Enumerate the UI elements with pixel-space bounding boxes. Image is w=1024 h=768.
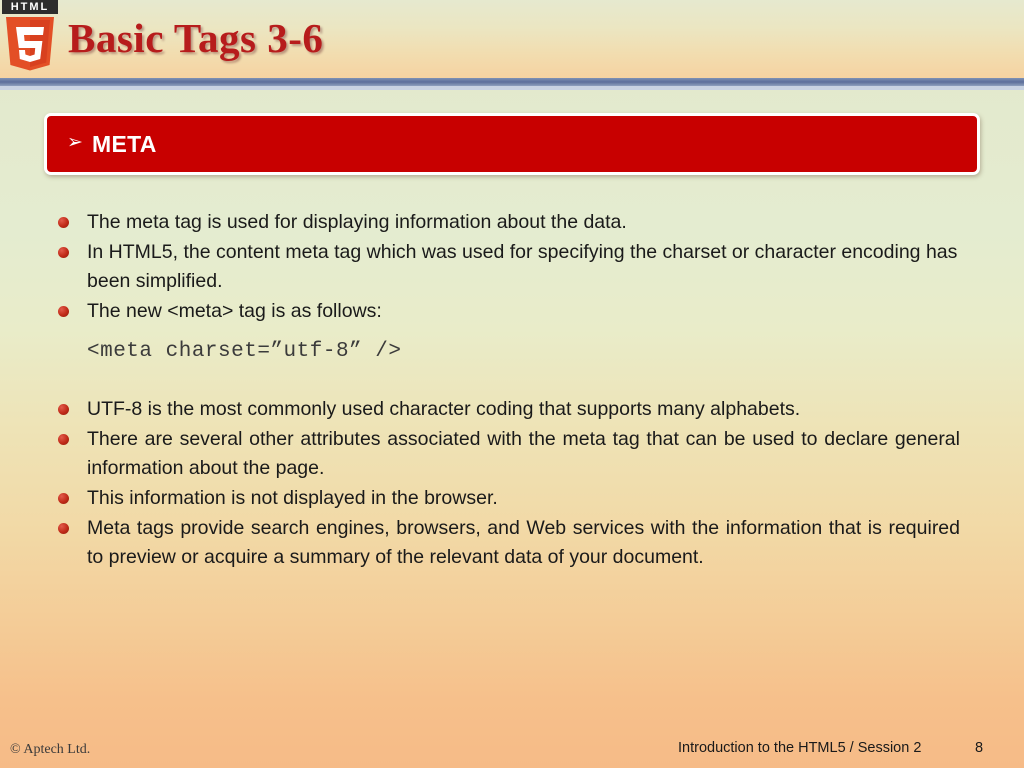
list-item: The meta tag is used for displaying info… [55,208,960,237]
section-heading-label: META [92,131,157,158]
page-title: Basic Tags 3-6 [68,14,323,62]
footer-copyright: © Aptech Ltd. [10,742,90,758]
list-item-text: UTF-8 is the most commonly used characte… [87,395,960,424]
slide: HTML Basic Tags 3-6 ➢ META The meta tag … [0,0,1024,768]
list-item-text: There are several other attributes assoc… [87,425,960,483]
list-item: There are several other attributes assoc… [55,425,960,483]
footer-page-number: 8 [975,740,983,756]
list-item: Meta tags provide search engines, browse… [55,514,960,572]
bullet-dot-icon [58,434,69,445]
copyright-icon: © [10,742,21,757]
bullet-dot-icon [58,247,69,258]
html5-shield-icon [2,15,58,71]
bullet-dot-icon [58,493,69,504]
bullet-dot-icon [58,404,69,415]
html5-logo-word: HTML [2,0,58,14]
footer-course-label: Introduction to the HTML5 / Session 2 [678,740,921,756]
html5-logo: HTML [0,0,62,72]
slide-content: The meta tag is used for displaying info… [55,208,960,573]
section-heading-box: ➢ META [44,113,980,175]
list-item: The new <meta> tag is as follows: [55,297,960,326]
list-item-text: Meta tags provide search engines, browse… [87,514,960,572]
bullet-dot-icon [58,306,69,317]
list-item-text: The new <meta> tag is as follows: [87,297,960,326]
list-item: UTF-8 is the most commonly used characte… [55,395,960,424]
code-snippet: <meta charset=”utf-8” /> [87,340,960,363]
bullet-dot-icon [58,523,69,534]
header-divider [0,78,1024,86]
arrow-right-icon: ➢ [67,133,83,152]
list-item-text: The meta tag is used for displaying info… [87,208,960,237]
footer-copyright-text: Aptech Ltd. [23,742,90,757]
list-item-text: This information is not displayed in the… [87,484,960,513]
header-divider-light [0,86,1024,90]
list-item: In HTML5, the content meta tag which was… [55,238,960,296]
bullet-dot-icon [58,217,69,228]
list-item-text: In HTML5, the content meta tag which was… [87,238,960,296]
list-item: This information is not displayed in the… [55,484,960,513]
